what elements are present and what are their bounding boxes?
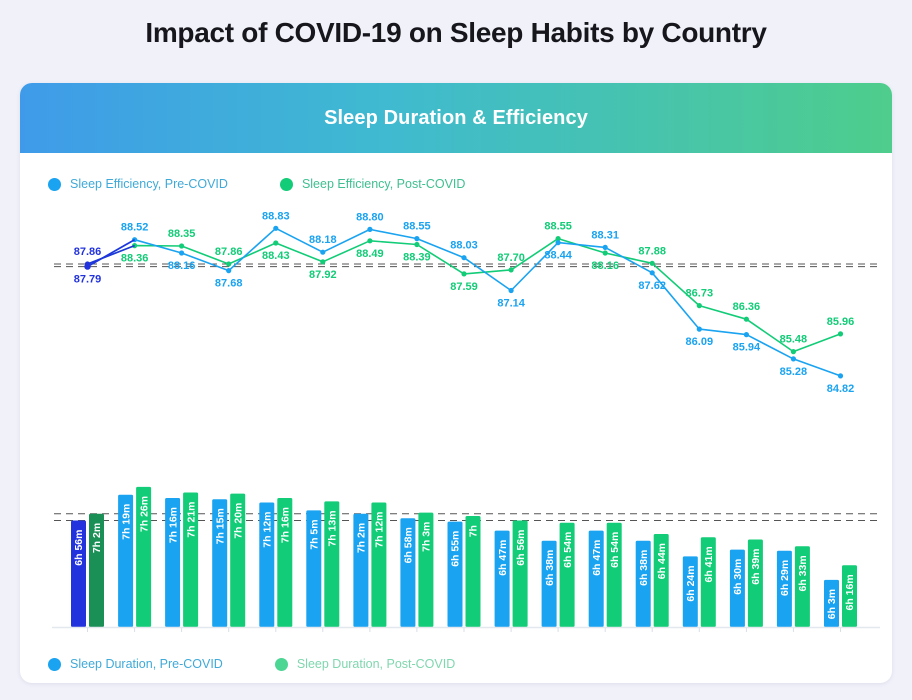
bar-value-label: 7h 2m	[91, 523, 103, 553]
bar-value-label: 7h 20m	[232, 503, 244, 539]
bar-value-label: 7h 12m	[262, 512, 274, 548]
bar-group: 7h 5m	[306, 510, 321, 627]
line-value-label: 88.44	[544, 250, 572, 262]
bar-group: 6h 58m	[400, 518, 415, 627]
line-data-point[interactable]	[603, 245, 608, 250]
line-data-point[interactable]	[367, 238, 372, 243]
line-value-label: 88.03	[450, 240, 478, 252]
bar-value-label: 7h	[468, 525, 480, 537]
line-value-label: 87.70	[497, 252, 525, 264]
line-value-label: 85.48	[780, 334, 808, 346]
bar-value-label: 6h 58m	[403, 527, 415, 563]
line-value-label: 88.31	[591, 229, 619, 241]
bar-value-label: 6h 39m	[750, 549, 762, 585]
bar-value-label: 6h 54m	[562, 532, 574, 568]
card-header: Sleep Duration & Efficiency	[20, 83, 892, 153]
line-value-label: 88.49	[356, 248, 384, 260]
line-value-label: 84.82	[827, 383, 855, 395]
line-data-point[interactable]	[320, 259, 325, 264]
bar-value-label: 6h 56m	[73, 530, 85, 566]
line-data-point[interactable]	[791, 349, 796, 354]
bar-value-label: 6h 29m	[779, 560, 791, 596]
line-data-point[interactable]	[744, 317, 749, 322]
bar-group: 7h 3m	[418, 513, 433, 627]
bar-group: 6h 47m	[589, 531, 604, 627]
line-data-point[interactable]	[650, 270, 655, 275]
line-value-label: 87.86	[215, 246, 243, 258]
line-value-label: 87.59	[450, 281, 478, 293]
bar-value-label: 7h 21m	[185, 502, 197, 538]
line-data-point[interactable]	[650, 261, 655, 266]
line-data-point[interactable]	[697, 303, 702, 308]
line-data-point[interactable]	[838, 373, 843, 378]
legend-duration: Sleep Duration, Pre-COVID Sleep Duration…	[20, 657, 455, 671]
chart-plot-area: 6h 56m7h 2m7h 19m7h 26m7h 16m7h 21m7h 15…	[20, 179, 892, 649]
line-data-point[interactable]	[179, 243, 184, 248]
page-title: Impact of COVID-19 on Sleep Habits by Co…	[0, 0, 912, 49]
legend-label: Sleep Duration, Pre-COVID	[70, 657, 223, 671]
bar-value-label: 7h 13m	[327, 510, 339, 546]
line-data-point[interactable]	[603, 250, 608, 255]
bar-group: 7h 19m	[118, 495, 133, 627]
bar-value-label: 6h 38m	[638, 550, 650, 586]
bar-value-label: 6h 30m	[732, 559, 744, 595]
line-value-label: 88.35	[168, 228, 196, 240]
card-header-title: Sleep Duration & Efficiency	[324, 107, 588, 130]
bar-value-label: 6h 24m	[685, 565, 697, 601]
global-data-point[interactable]	[84, 263, 90, 269]
line-value-label: 87.86	[74, 246, 102, 258]
bar-value-label: 6h 47m	[591, 540, 603, 576]
bar-value-label: 6h 3m	[826, 589, 838, 619]
bar-value-label: 7h 26m	[138, 496, 150, 532]
line-value-label: 87.62	[638, 280, 666, 292]
bar-group: 6h 38m	[542, 541, 557, 627]
bar-group: 7h 12m	[259, 503, 274, 628]
line-value-label: 88.43	[262, 250, 290, 262]
line-data-point[interactable]	[556, 240, 561, 245]
bar-value-label: 6h 33m	[797, 555, 809, 591]
bar-group: 7h 2m	[353, 514, 368, 627]
line-value-label: 88.39	[403, 252, 431, 264]
chart-card: Sleep Duration & Efficiency Sleep Effici…	[20, 83, 892, 683]
line-value-label: 87.88	[638, 245, 666, 257]
line-value-label: 88.16	[591, 260, 619, 272]
line-data-point[interactable]	[226, 268, 231, 273]
bar-value-label: 6h 47m	[497, 540, 509, 576]
bar-group: 6h 56m	[513, 521, 528, 628]
bar-group: 6h 54m	[607, 523, 622, 627]
line-data-point[interactable]	[179, 250, 184, 255]
line-data-point[interactable]	[273, 240, 278, 245]
bar-value-label: 7h 16m	[280, 507, 292, 543]
line-value-label: 88.16	[168, 260, 196, 272]
bar-group: 6h 3m	[824, 580, 839, 627]
bar-value-label: 7h 15m	[214, 508, 226, 544]
line-value-label: 86.09	[686, 336, 714, 348]
line-value-label: 87.68	[215, 278, 243, 290]
bar-group: 6h 38m	[636, 541, 651, 627]
line-value-label: 88.83	[262, 210, 290, 222]
line-value-label: 88.18	[309, 234, 337, 246]
line-value-label: 86.73	[686, 288, 714, 300]
bar-value-label: 6h 44m	[656, 543, 668, 579]
line-data-point[interactable]	[320, 250, 325, 255]
bar-group: 6h 39m	[748, 540, 763, 628]
line-value-label: 87.79	[74, 274, 102, 286]
legend-item-duration-post[interactable]: Sleep Duration, Post-COVID	[275, 657, 455, 671]
bar-group: 6h 16m	[842, 565, 857, 627]
bar-group: 6h 29m	[777, 551, 792, 627]
line-value-label: 88.80	[356, 211, 384, 223]
bar-group: 6h 33m	[795, 546, 810, 627]
bar-group: 6h 56m	[71, 521, 86, 628]
bar-value-label: 7h 2m	[356, 523, 368, 553]
bar-group: 6h 55m	[448, 522, 463, 627]
line-data-point[interactable]	[273, 226, 278, 231]
line-data-point[interactable]	[414, 236, 419, 241]
line-data-point[interactable]	[461, 271, 466, 276]
line-value-label: 88.36	[121, 253, 149, 265]
bar-group: 7h 2m	[89, 514, 104, 627]
bar-group: 7h 20m	[230, 494, 245, 627]
line-data-point[interactable]	[791, 356, 796, 361]
line-value-label: 86.36	[733, 301, 761, 313]
line-data-point[interactable]	[461, 255, 466, 260]
line-data-point[interactable]	[414, 242, 419, 247]
line-data-point[interactable]	[838, 331, 843, 336]
bar-group: 6h 24m	[683, 556, 698, 627]
bar-value-label: 6h 56m	[515, 530, 527, 566]
bar-group: 6h 41m	[701, 537, 716, 627]
bar-group: 7h 21m	[183, 493, 198, 628]
bar-group: 7h 15m	[212, 499, 227, 627]
bar-group: 7h 12m	[371, 503, 386, 628]
line-value-label: 87.14	[497, 298, 525, 310]
bar-group: 6h 44m	[654, 534, 669, 627]
legend-dot-icon	[48, 658, 61, 671]
bar-value-label: 6h 16m	[844, 574, 856, 610]
bar-value-label: 7h 3m	[421, 522, 433, 552]
line-data-point[interactable]	[744, 332, 749, 337]
line-value-label: 85.28	[780, 366, 808, 378]
line-value-label: 88.55	[403, 221, 431, 233]
line-value-label: 85.96	[827, 316, 855, 328]
line-data-point[interactable]	[226, 261, 231, 266]
bar-group: 7h 13m	[324, 501, 339, 627]
legend-dot-icon	[275, 658, 288, 671]
bar-value-label: 7h 19m	[120, 504, 132, 540]
bar-group: 6h 30m	[730, 550, 745, 627]
line-data-point[interactable]	[367, 227, 372, 232]
line-data-point[interactable]	[697, 327, 702, 332]
line-data-point[interactable]	[509, 267, 514, 272]
bar-group: 6h 47m	[495, 531, 510, 627]
combo-chart: 6h 56m7h 2m7h 19m7h 26m7h 16m7h 21m7h 15…	[20, 179, 892, 649]
legend-item-duration-pre[interactable]: Sleep Duration, Pre-COVID	[48, 657, 223, 671]
bar-value-label: 7h 5m	[309, 519, 321, 549]
bar-group: 7h 16m	[165, 498, 180, 627]
line-value-label: 85.94	[733, 342, 761, 354]
line-value-label: 88.52	[121, 222, 149, 234]
bar-value-label: 6h 54m	[609, 532, 621, 568]
bar-value-label: 6h 55m	[450, 531, 462, 567]
bar-group: 7h 26m	[136, 487, 151, 627]
line-data-point[interactable]	[509, 288, 514, 293]
bar-value-label: 6h 41m	[703, 546, 715, 582]
bar-value-label: 7h 16m	[167, 507, 179, 543]
bar-group: 6h 54m	[560, 523, 575, 627]
legend-label: Sleep Duration, Post-COVID	[297, 657, 455, 671]
bar-group: 7h 16m	[277, 498, 292, 627]
bar-group: 7h	[466, 516, 481, 627]
line-value-label: 87.92	[309, 269, 337, 281]
line-value-label: 88.55	[544, 221, 572, 233]
bar-value-label: 6h 38m	[544, 550, 556, 586]
bar-value-label: 7h 12m	[374, 512, 386, 548]
